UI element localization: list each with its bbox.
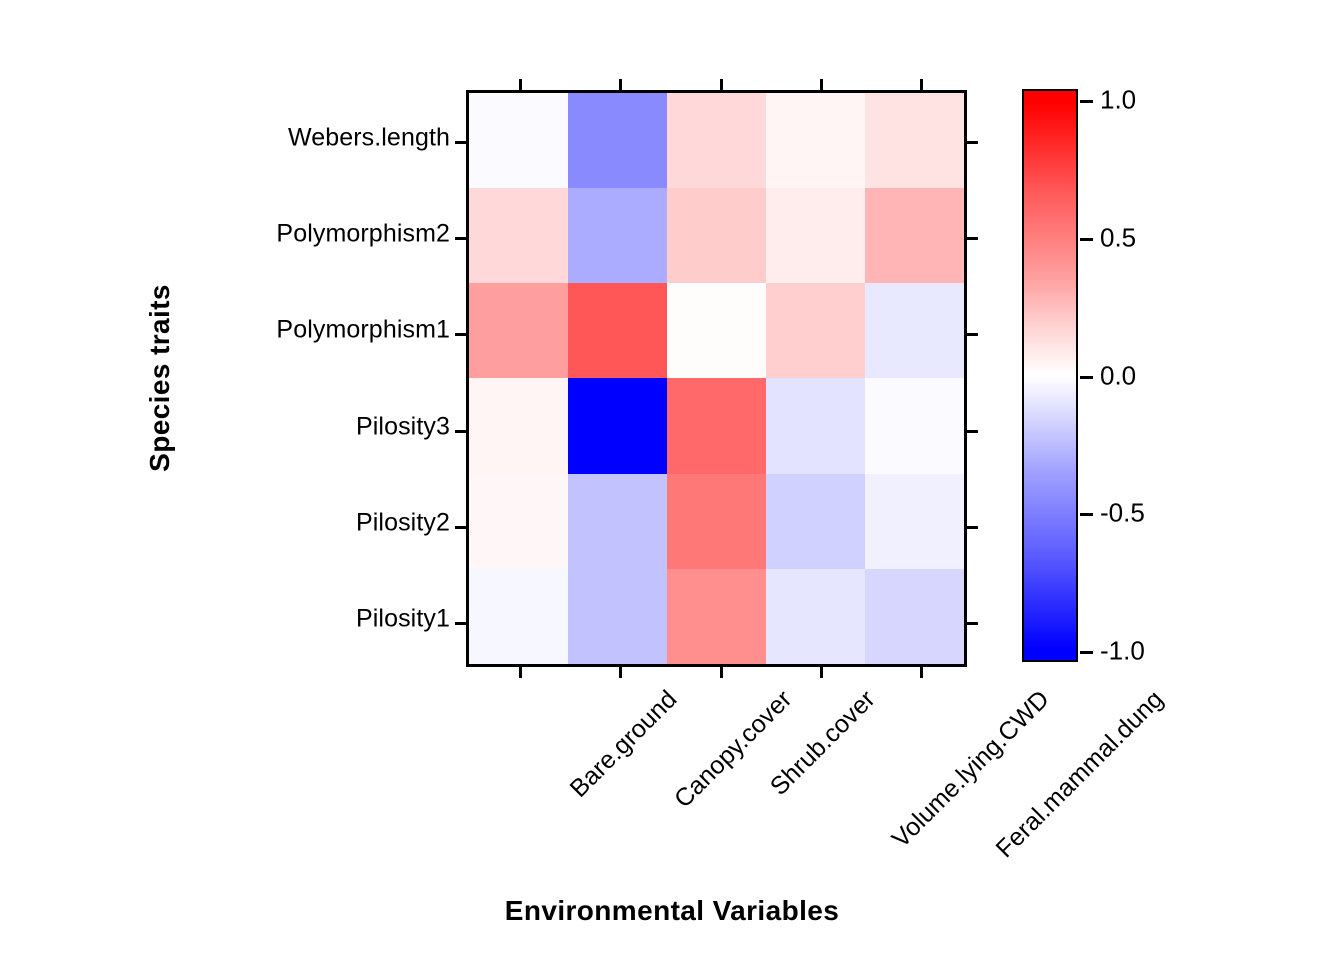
heatmap-grid: [469, 93, 964, 664]
colorbar-tick-mark: [1080, 513, 1093, 516]
x-axis-tick-mark: [720, 665, 723, 678]
colorbar-tick-label: -1.0: [1100, 636, 1145, 667]
x-axis-tick-label: Bare.ground: [565, 685, 684, 804]
heatmap-cell: [865, 283, 964, 378]
colorbar-tick-mark: [1080, 651, 1093, 654]
x-axis-tick-mark-top: [519, 79, 522, 92]
y-axis-title: Species traits: [144, 284, 176, 472]
y-axis-labels: Webers.lengthPolymorphism2Polymorphism1P…: [0, 90, 450, 667]
y-axis-tick-label: Pilosity3: [356, 412, 450, 441]
colorbar-tick-mark: [1080, 238, 1093, 241]
colorbar-tick-label: 0.5: [1100, 222, 1136, 253]
y-axis-tick-label: Webers.length: [288, 124, 450, 153]
colorbar-tick-label: -0.5: [1100, 498, 1145, 529]
heatmap-cell: [766, 93, 865, 188]
colorbar-gradient: [1022, 89, 1078, 662]
heatmap-cell: [568, 283, 667, 378]
heatmap-cell: [469, 188, 568, 283]
heatmap-cell: [865, 569, 964, 664]
colorbar-tick-label: 1.0: [1100, 85, 1136, 116]
heatmap-cell: [667, 93, 766, 188]
y-axis-tick-label: Pilosity2: [356, 508, 450, 537]
x-axis-tick-mark: [920, 665, 923, 678]
heatmap-cell: [667, 474, 766, 569]
x-axis-labels: Bare.groundCanopy.coverShrub.coverVolume…: [466, 685, 967, 885]
x-axis-tick-mark-top: [920, 79, 923, 92]
heatmap-cell: [568, 474, 667, 569]
y-axis-tick-mark-right: [965, 333, 978, 336]
x-axis-tick-mark-top: [720, 79, 723, 92]
heatmap-cell: [865, 474, 964, 569]
x-axis-title: Environmental Variables: [0, 895, 1344, 927]
heatmap-cell: [469, 283, 568, 378]
heatmap-cell: [766, 188, 865, 283]
y-axis-tick-mark: [455, 430, 468, 433]
y-axis-tick-mark: [455, 237, 468, 240]
heatmap-cell: [766, 569, 865, 664]
y-axis-tick-label: Pilosity1: [356, 604, 450, 633]
y-axis-tick-mark-right: [965, 430, 978, 433]
heatmap-cell: [568, 93, 667, 188]
heatmap-cell: [469, 474, 568, 569]
y-axis-tick-mark: [455, 622, 468, 625]
heatmap-cell: [469, 378, 568, 473]
x-axis-tick-mark: [619, 665, 622, 678]
heatmap-cell: [667, 378, 766, 473]
heatmap-cell: [667, 569, 766, 664]
heatmap-cell: [469, 569, 568, 664]
y-axis-tick-label: Polymorphism2: [276, 220, 450, 249]
colorbar-tick-mark: [1080, 376, 1093, 379]
y-axis-tick-mark-right: [965, 526, 978, 529]
y-axis-tick-mark: [455, 526, 468, 529]
heatmap-cell: [667, 283, 766, 378]
heatmap-cell: [667, 188, 766, 283]
x-axis-tick-mark: [519, 665, 522, 678]
y-axis-tick-mark-right: [965, 237, 978, 240]
heatmap-cell: [568, 569, 667, 664]
heatmap-cell: [568, 188, 667, 283]
heatmap-cell: [766, 283, 865, 378]
colorbar-tick-label: 0.0: [1100, 360, 1136, 391]
heatmap-cell: [469, 93, 568, 188]
y-axis-tick-label: Polymorphism1: [276, 316, 450, 345]
heatmap-cell: [865, 378, 964, 473]
heatmap-cell: [766, 378, 865, 473]
heatmap-plot-area: [466, 90, 967, 667]
y-axis-tick-mark: [455, 333, 468, 336]
heatmap-cell: [568, 378, 667, 473]
heatmap-cell: [865, 93, 964, 188]
x-axis-tick-mark-top: [619, 79, 622, 92]
heatmap-cell: [865, 188, 964, 283]
y-axis-tick-mark-right: [965, 141, 978, 144]
colorbar-tick-mark: [1080, 100, 1093, 103]
heatmap-cell: [766, 474, 865, 569]
y-axis-tick-mark: [455, 141, 468, 144]
x-axis-tick-mark: [820, 665, 823, 678]
x-axis-tick-mark-top: [820, 79, 823, 92]
y-axis-tick-mark-right: [965, 622, 978, 625]
